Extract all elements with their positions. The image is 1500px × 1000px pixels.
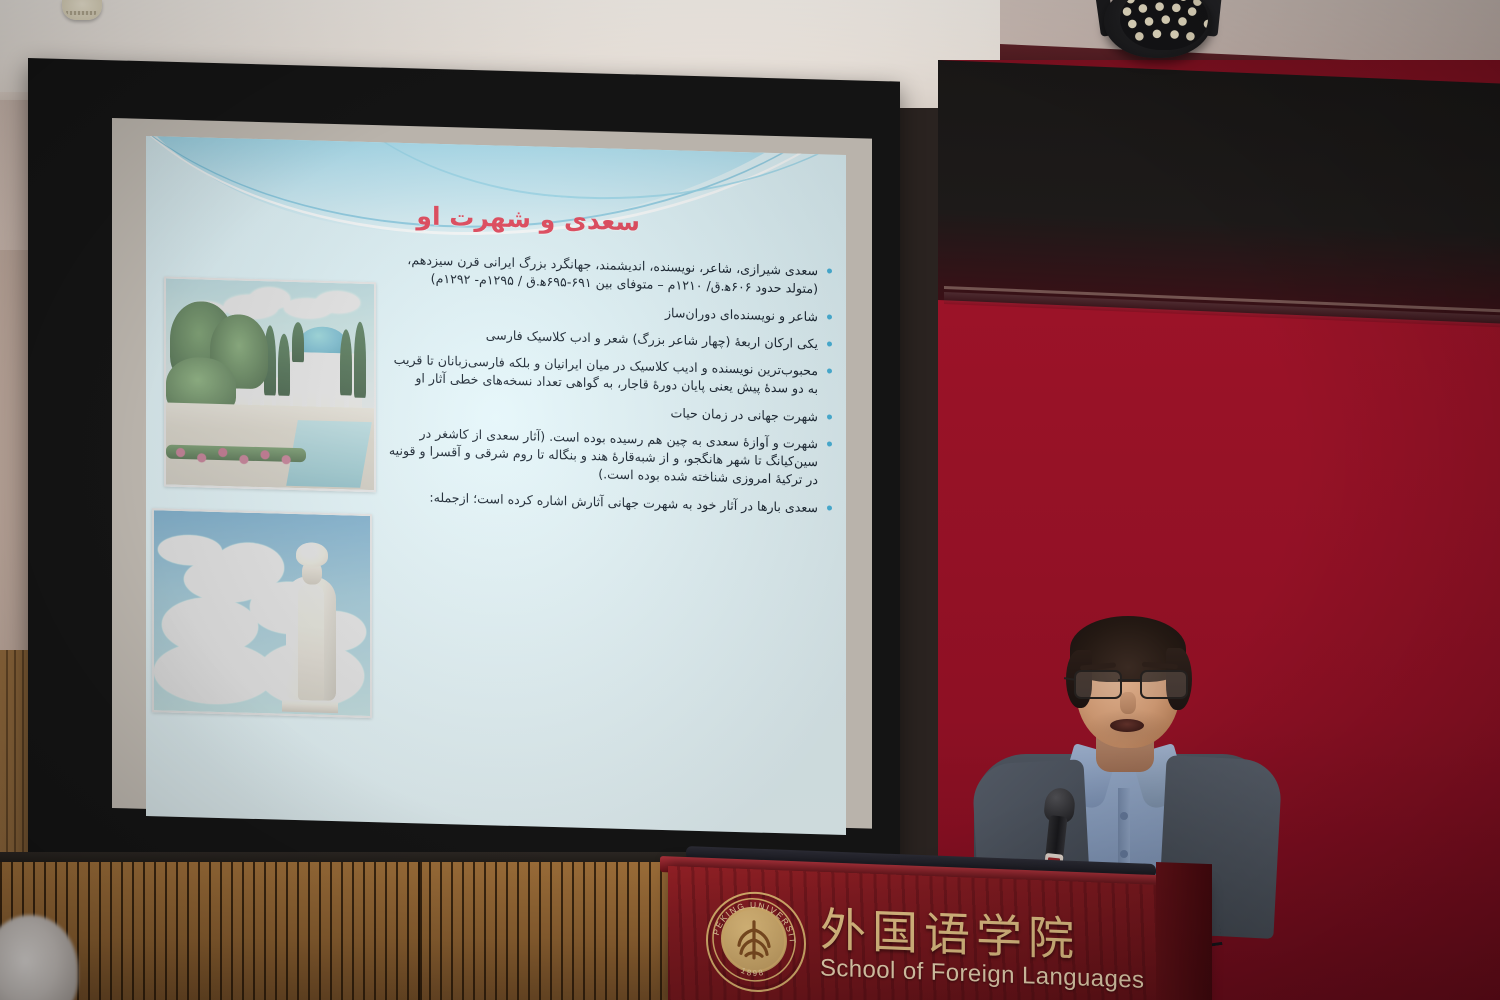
lens-right (1140, 670, 1188, 699)
par-led-stage-light-icon (1098, 0, 1220, 68)
list-item: شاعر و نویسنده‌ای دوران‌ساز (384, 296, 834, 326)
column (316, 357, 321, 411)
list-item: سعدی بارها در آثار خود به شهرت جهانی آثا… (384, 487, 834, 517)
crimson-wall-upper-dark (938, 60, 1500, 324)
speaker-nose (1120, 692, 1136, 714)
list-item: یکی ارکان اربعهٔ (چهار شاعر بزرگ) شعر و … (384, 323, 834, 353)
slide-title: سعدی و شهرت او (416, 201, 640, 236)
saadi-statue-figure (278, 540, 344, 710)
column (330, 357, 335, 411)
peking-university-seal-icon: PEKING UNIVERSITY 1898 (706, 890, 806, 994)
cypress-tree (292, 322, 304, 362)
list-item: شهرت و آوازهٔ سعدی به چین هم رسیده بوده … (384, 423, 834, 490)
column (302, 356, 307, 410)
smoke-detector-icon (62, 0, 102, 20)
wood-slat-wall (0, 862, 690, 1000)
slide-bullet-list: سعدی شیرازی، شاعر، نویسنده، اندیشمند، جه… (384, 250, 834, 526)
statue-of-saadi-photo (152, 508, 372, 718)
cypress-tree (278, 334, 290, 396)
list-item: محبوب‌ترین نویسنده و ادیب کلاسیک در میان… (384, 350, 834, 399)
lecture-hall-photo: سعدی و شهرت او (0, 0, 1500, 1000)
list-item: سعدی شیرازی، شاعر، نویسنده، اندیشمند، جه… (384, 250, 834, 299)
svg-text:1898: 1898 (740, 966, 766, 979)
speaker-mouth (1110, 719, 1144, 732)
wood-wall-seam (418, 862, 422, 1000)
statue-base (282, 700, 338, 714)
light-led-array (1120, 0, 1208, 50)
flower-bed (170, 443, 302, 471)
glasses-bridge (1118, 679, 1140, 681)
list-item: شهرت جهانی در زمان حیات (384, 396, 834, 426)
podium-text-block: 外国语学院 School of Foreign Languages (820, 906, 1144, 994)
shirt-button (1120, 850, 1128, 858)
light-body (1104, 0, 1212, 58)
tomb-of-saadi-photo (164, 276, 376, 492)
podium-branding: PEKING UNIVERSITY 1898 外国语学院 School of F… (680, 878, 1200, 1000)
shirt-button (1120, 812, 1128, 820)
cypress-tree (354, 322, 366, 398)
presentation-slide: سعدی و شهرت او (146, 136, 846, 835)
statue-inner-robe (298, 584, 324, 701)
statue-turban (296, 542, 328, 567)
cypress-tree (340, 329, 352, 395)
lens-left (1074, 670, 1122, 699)
